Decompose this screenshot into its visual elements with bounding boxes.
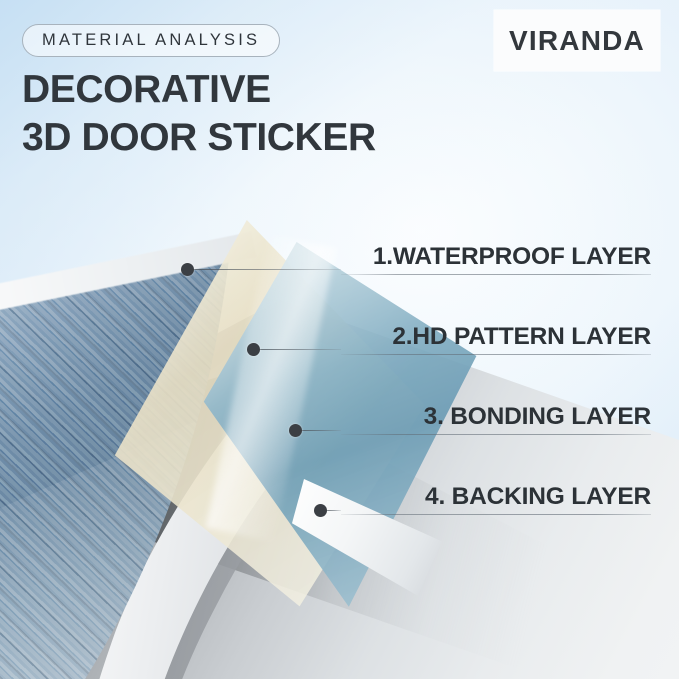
callout-rule-1 <box>341 274 651 275</box>
eyebrow-label: MATERIAL ANALYSIS <box>42 31 260 50</box>
callout-rule-4 <box>341 514 651 515</box>
callout-label-4-text: 4. BACKING LAYER <box>425 483 651 511</box>
callout-dot-1 <box>181 263 194 276</box>
page-title: DECORATIVE 3D DOOR STICKER <box>22 66 376 162</box>
callout-leader-3 <box>301 430 341 431</box>
callout-leader-2 <box>259 349 341 350</box>
callout-leader-4 <box>326 510 341 511</box>
callout-label-4: 4. BACKING LAYER <box>231 483 651 515</box>
callout-rule-2 <box>341 354 651 355</box>
callout-label-3-text: 3. BONDING LAYER <box>424 403 651 431</box>
brand-logo-box: VIRANDA <box>494 10 660 71</box>
callout-dot-2 <box>247 343 260 356</box>
brand-name: VIRANDA <box>509 25 645 57</box>
callout-dot-4 <box>314 504 327 517</box>
infographic-canvas: MATERIAL ANALYSIS DECORATIVE 3D DOOR STI… <box>0 0 679 679</box>
eyebrow-pill: MATERIAL ANALYSIS <box>22 24 280 57</box>
page-title-line-1: DECORATIVE <box>22 68 271 111</box>
page-title-line-2: 3D DOOR STICKER <box>22 114 376 162</box>
callout-label-1: 1.WATERPROOF LAYER <box>231 243 651 275</box>
callout-label-2-text: 2.HD PATTERN LAYER <box>392 323 651 351</box>
callout-dot-3 <box>289 424 302 437</box>
callout-label-2: 2.HD PATTERN LAYER <box>231 323 651 355</box>
callout-label-1-text: 1.WATERPROOF LAYER <box>373 243 651 271</box>
callout-rule-3 <box>341 434 651 435</box>
callout-leader-1 <box>193 269 341 270</box>
